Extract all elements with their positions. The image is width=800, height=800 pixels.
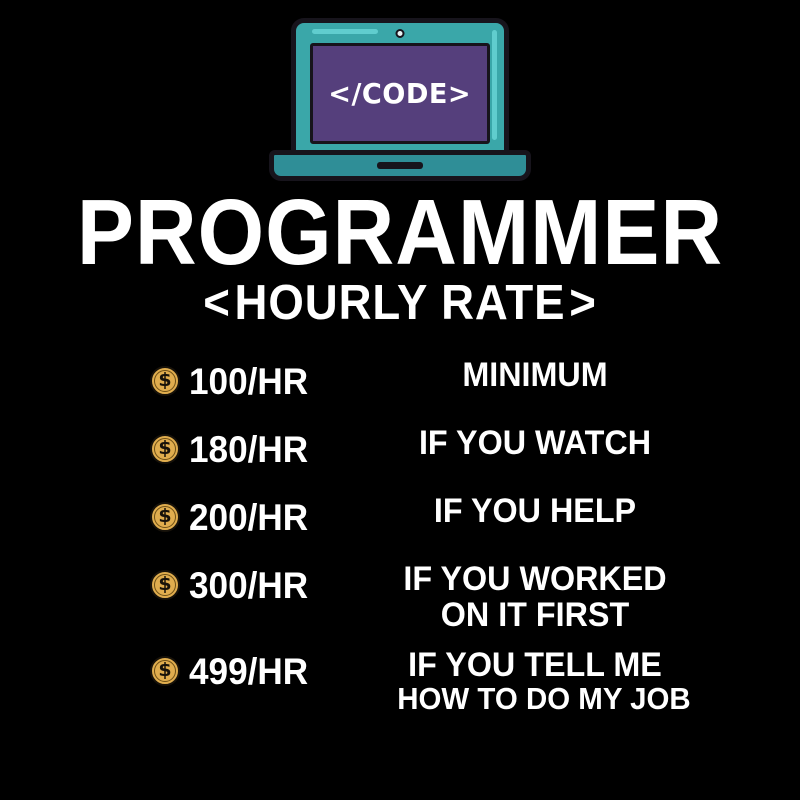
webcam-icon bbox=[396, 29, 405, 38]
laptop-base bbox=[269, 150, 531, 181]
coin-dollar-glyph: $ bbox=[158, 439, 171, 458]
page-subtitle-label: HOURLY RATE bbox=[235, 276, 566, 330]
laptop-illustration: </CODE> bbox=[0, 18, 800, 188]
chevron-left-glyph: < bbox=[200, 278, 235, 329]
rate-description-line1: IF YOU HELP bbox=[397, 493, 673, 529]
rate-cell-right: MINIMUM bbox=[390, 357, 680, 393]
rate-description-line1: IF YOU WATCH bbox=[397, 425, 673, 461]
screen-code-text: </CODE> bbox=[329, 80, 472, 108]
coin-dollar-glyph: $ bbox=[158, 371, 171, 390]
rate-description-line2: HOW TO DO MY JOB bbox=[397, 683, 673, 716]
poster-canvas: </CODE> PROGRAMMER <HOURLY RATE> $ 100/H… bbox=[0, 0, 800, 800]
rate-value: 180/HR bbox=[189, 431, 308, 468]
table-row: $ 499/HR IF YOU TELL ME HOW TO DO MY JOB bbox=[0, 647, 800, 733]
coin-dollar-glyph: $ bbox=[158, 575, 171, 594]
rate-value: 499/HR bbox=[189, 653, 308, 690]
coin-dollar-icon: $ bbox=[150, 502, 180, 532]
coin-dollar-icon: $ bbox=[150, 656, 180, 686]
rate-cell-left: $ 200/HR bbox=[150, 493, 314, 541]
rate-cell-left: $ 499/HR bbox=[150, 647, 314, 695]
coin-dollar-glyph: $ bbox=[158, 661, 171, 680]
coin-dollar-icon: $ bbox=[150, 434, 180, 464]
rate-cell-left: $ 300/HR bbox=[150, 561, 314, 609]
page-subtitle: <HOURLY RATE> bbox=[28, 278, 772, 329]
chevron-right-glyph: > bbox=[565, 278, 600, 329]
page-title: PROGRAMMER bbox=[32, 188, 768, 276]
rate-cell-left: $ 100/HR bbox=[150, 357, 314, 405]
trackpad bbox=[377, 162, 423, 169]
table-row: $ 180/HR IF YOU WATCH bbox=[0, 425, 800, 493]
rate-value: 100/HR bbox=[189, 363, 308, 400]
rate-cell-right: IF YOU TELL ME HOW TO DO MY JOB bbox=[390, 647, 680, 716]
laptop-lid: </CODE> bbox=[291, 18, 509, 158]
coin-dollar-glyph: $ bbox=[158, 507, 171, 526]
rate-cell-right: IF YOU WATCH bbox=[390, 425, 680, 461]
table-row: $ 200/HR IF YOU HELP bbox=[0, 493, 800, 561]
rate-value: 200/HR bbox=[189, 499, 308, 536]
table-row: $ 100/HR MINIMUM bbox=[0, 357, 800, 425]
table-row: $ 300/HR IF YOU WORKED ON IT FIRST bbox=[0, 561, 800, 647]
rate-table: $ 100/HR MINIMUM $ 180/HR IF YOU WATCH bbox=[0, 357, 800, 733]
rate-cell-right: IF YOU HELP bbox=[390, 493, 680, 529]
coin-dollar-icon: $ bbox=[150, 366, 180, 396]
rate-description-line2: ON IT FIRST bbox=[397, 597, 673, 633]
coin-dollar-icon: $ bbox=[150, 570, 180, 600]
lid-highlight-top bbox=[312, 29, 378, 34]
rate-cell-left: $ 180/HR bbox=[150, 425, 314, 473]
lid-highlight-right bbox=[492, 30, 497, 140]
rate-description-line1: MINIMUM bbox=[397, 357, 673, 393]
rate-description-line1: IF YOU TELL ME bbox=[397, 647, 673, 683]
headline-block: PROGRAMMER <HOURLY RATE> bbox=[0, 188, 800, 330]
rate-cell-right: IF YOU WORKED ON IT FIRST bbox=[390, 561, 680, 633]
laptop-screen: </CODE> bbox=[310, 43, 490, 144]
rate-description-line1: IF YOU WORKED bbox=[397, 561, 673, 597]
rate-value: 300/HR bbox=[189, 567, 308, 604]
